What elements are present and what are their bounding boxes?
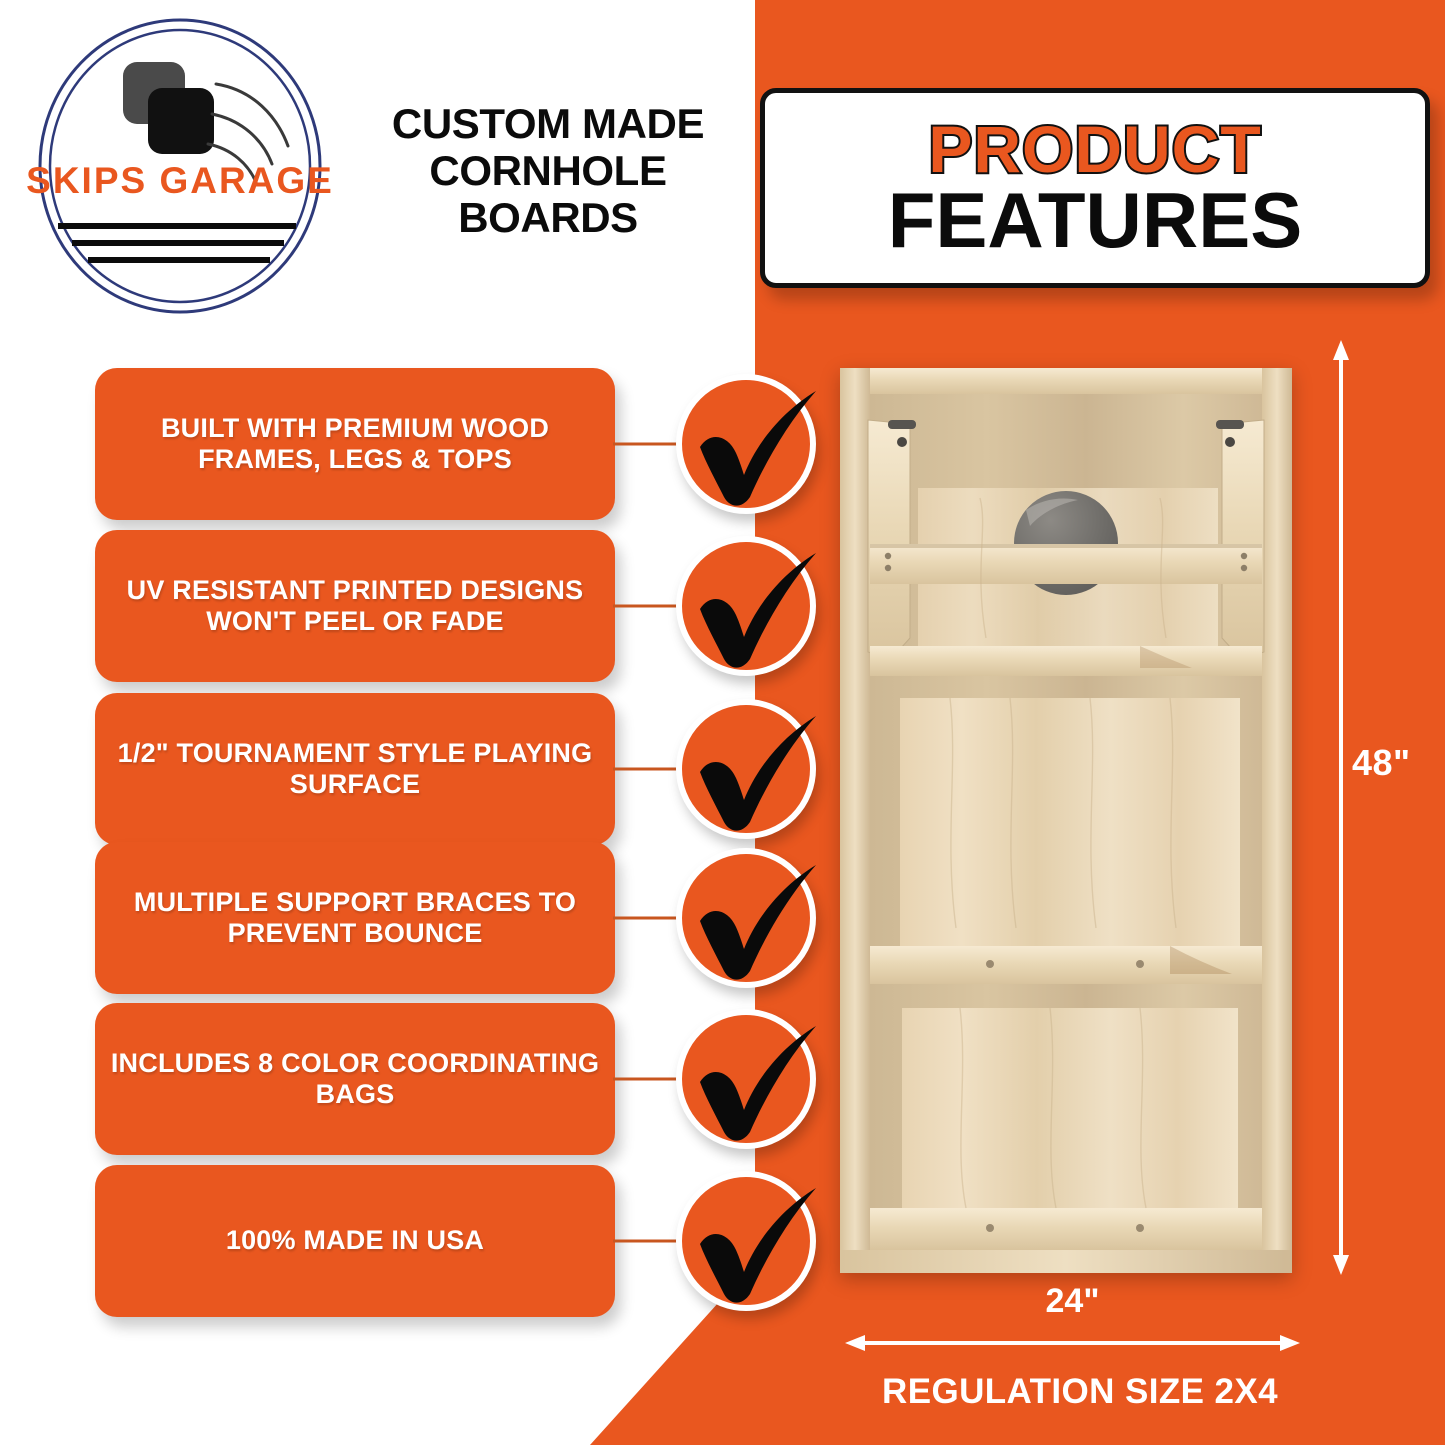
header-title-features: FEATURES: [888, 183, 1303, 258]
feature-row: 100% MADE IN USA: [0, 1165, 830, 1317]
feature-row: INCLUDES 8 COLOR COORDINATING BAGS: [0, 1003, 830, 1155]
brand-logo: SKIPS GARAGE: [20, 16, 340, 316]
feature-pill[interactable]: 1/2" TOURNAMENT STYLE PLAYING SURFACE: [95, 693, 615, 845]
page-headline: CUSTOM MADE CORNHOLE BOARDS: [348, 100, 748, 241]
feature-row: BUILT WITH PREMIUM WOOD FRAMES, LEGS & T…: [0, 368, 830, 520]
feature-row: UV RESISTANT PRINTED DESIGNS WON'T PEEL …: [0, 530, 830, 682]
checkmark-circle: [676, 374, 816, 514]
header-title-product: PRODUCT: [928, 118, 1261, 181]
dimension-width-label: 24": [845, 1282, 1300, 1321]
camera-squares-icon: [123, 62, 214, 154]
dimension-height-label: 48": [1352, 742, 1411, 784]
checkmark-circle: [676, 1171, 816, 1311]
feature-pill[interactable]: UV RESISTANT PRINTED DESIGNS WON'T PEEL …: [95, 530, 615, 682]
feature-row: MULTIPLE SUPPORT BRACES TO PREVENT BOUNC…: [0, 842, 830, 994]
infographic-page: SKIPS GARAGE CUSTOM MADE CORNHOLE BOARDS…: [0, 0, 1445, 1445]
regulation-size-label: REGULATION SIZE 2X4: [800, 1372, 1360, 1412]
logo-underlines: [58, 223, 296, 263]
product-photo-cornhole-board: [840, 368, 1292, 1273]
checkmark-circle: [676, 1009, 816, 1149]
checkmark-circle: [676, 699, 816, 839]
checkmark-circle: [676, 848, 816, 988]
feature-pill[interactable]: 100% MADE IN USA: [95, 1165, 615, 1317]
feature-row: 1/2" TOURNAMENT STYLE PLAYING SURFACE: [0, 693, 830, 845]
checkmark-circle: [676, 536, 816, 676]
dimension-width-arrow: [845, 1330, 1300, 1356]
logo-wordmark: SKIPS GARAGE: [20, 160, 340, 202]
feature-pill[interactable]: BUILT WITH PREMIUM WOOD FRAMES, LEGS & T…: [95, 368, 615, 520]
feature-pill[interactable]: MULTIPLE SUPPORT BRACES TO PREVENT BOUNC…: [95, 842, 615, 994]
product-features-header: PRODUCT FEATURES: [760, 88, 1430, 288]
dimension-height-arrow: [1326, 340, 1356, 1275]
feature-pill[interactable]: INCLUDES 8 COLOR COORDINATING BAGS: [95, 1003, 615, 1155]
